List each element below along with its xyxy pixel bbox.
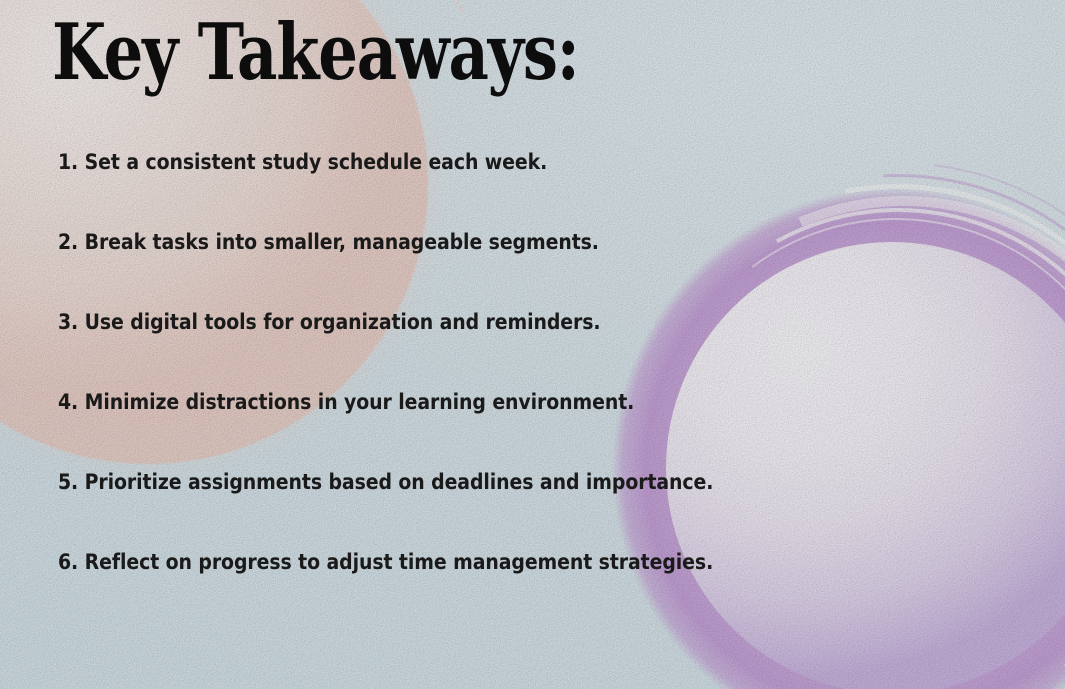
list-item: 4. Minimize distractions in your learnin… — [58, 388, 886, 468]
list-item: 3. Use digital tools for organization an… — [58, 308, 886, 388]
takeaway-list: 1. Set a consistent study schedule each … — [58, 148, 978, 628]
list-item: 1. Set a consistent study schedule each … — [58, 148, 886, 228]
page-title: Key Takeaways: — [52, 14, 579, 92]
slide-canvas: Key Takeaways: 1. Set a consistent study… — [0, 0, 1065, 689]
list-item: 6. Reflect on progress to adjust time ma… — [58, 548, 886, 628]
list-item: 5. Prioritize assignments based on deadl… — [58, 468, 886, 548]
slide-content: Key Takeaways: 1. Set a consistent study… — [0, 0, 1065, 689]
list-item: 2. Break tasks into smaller, manageable … — [58, 228, 886, 308]
